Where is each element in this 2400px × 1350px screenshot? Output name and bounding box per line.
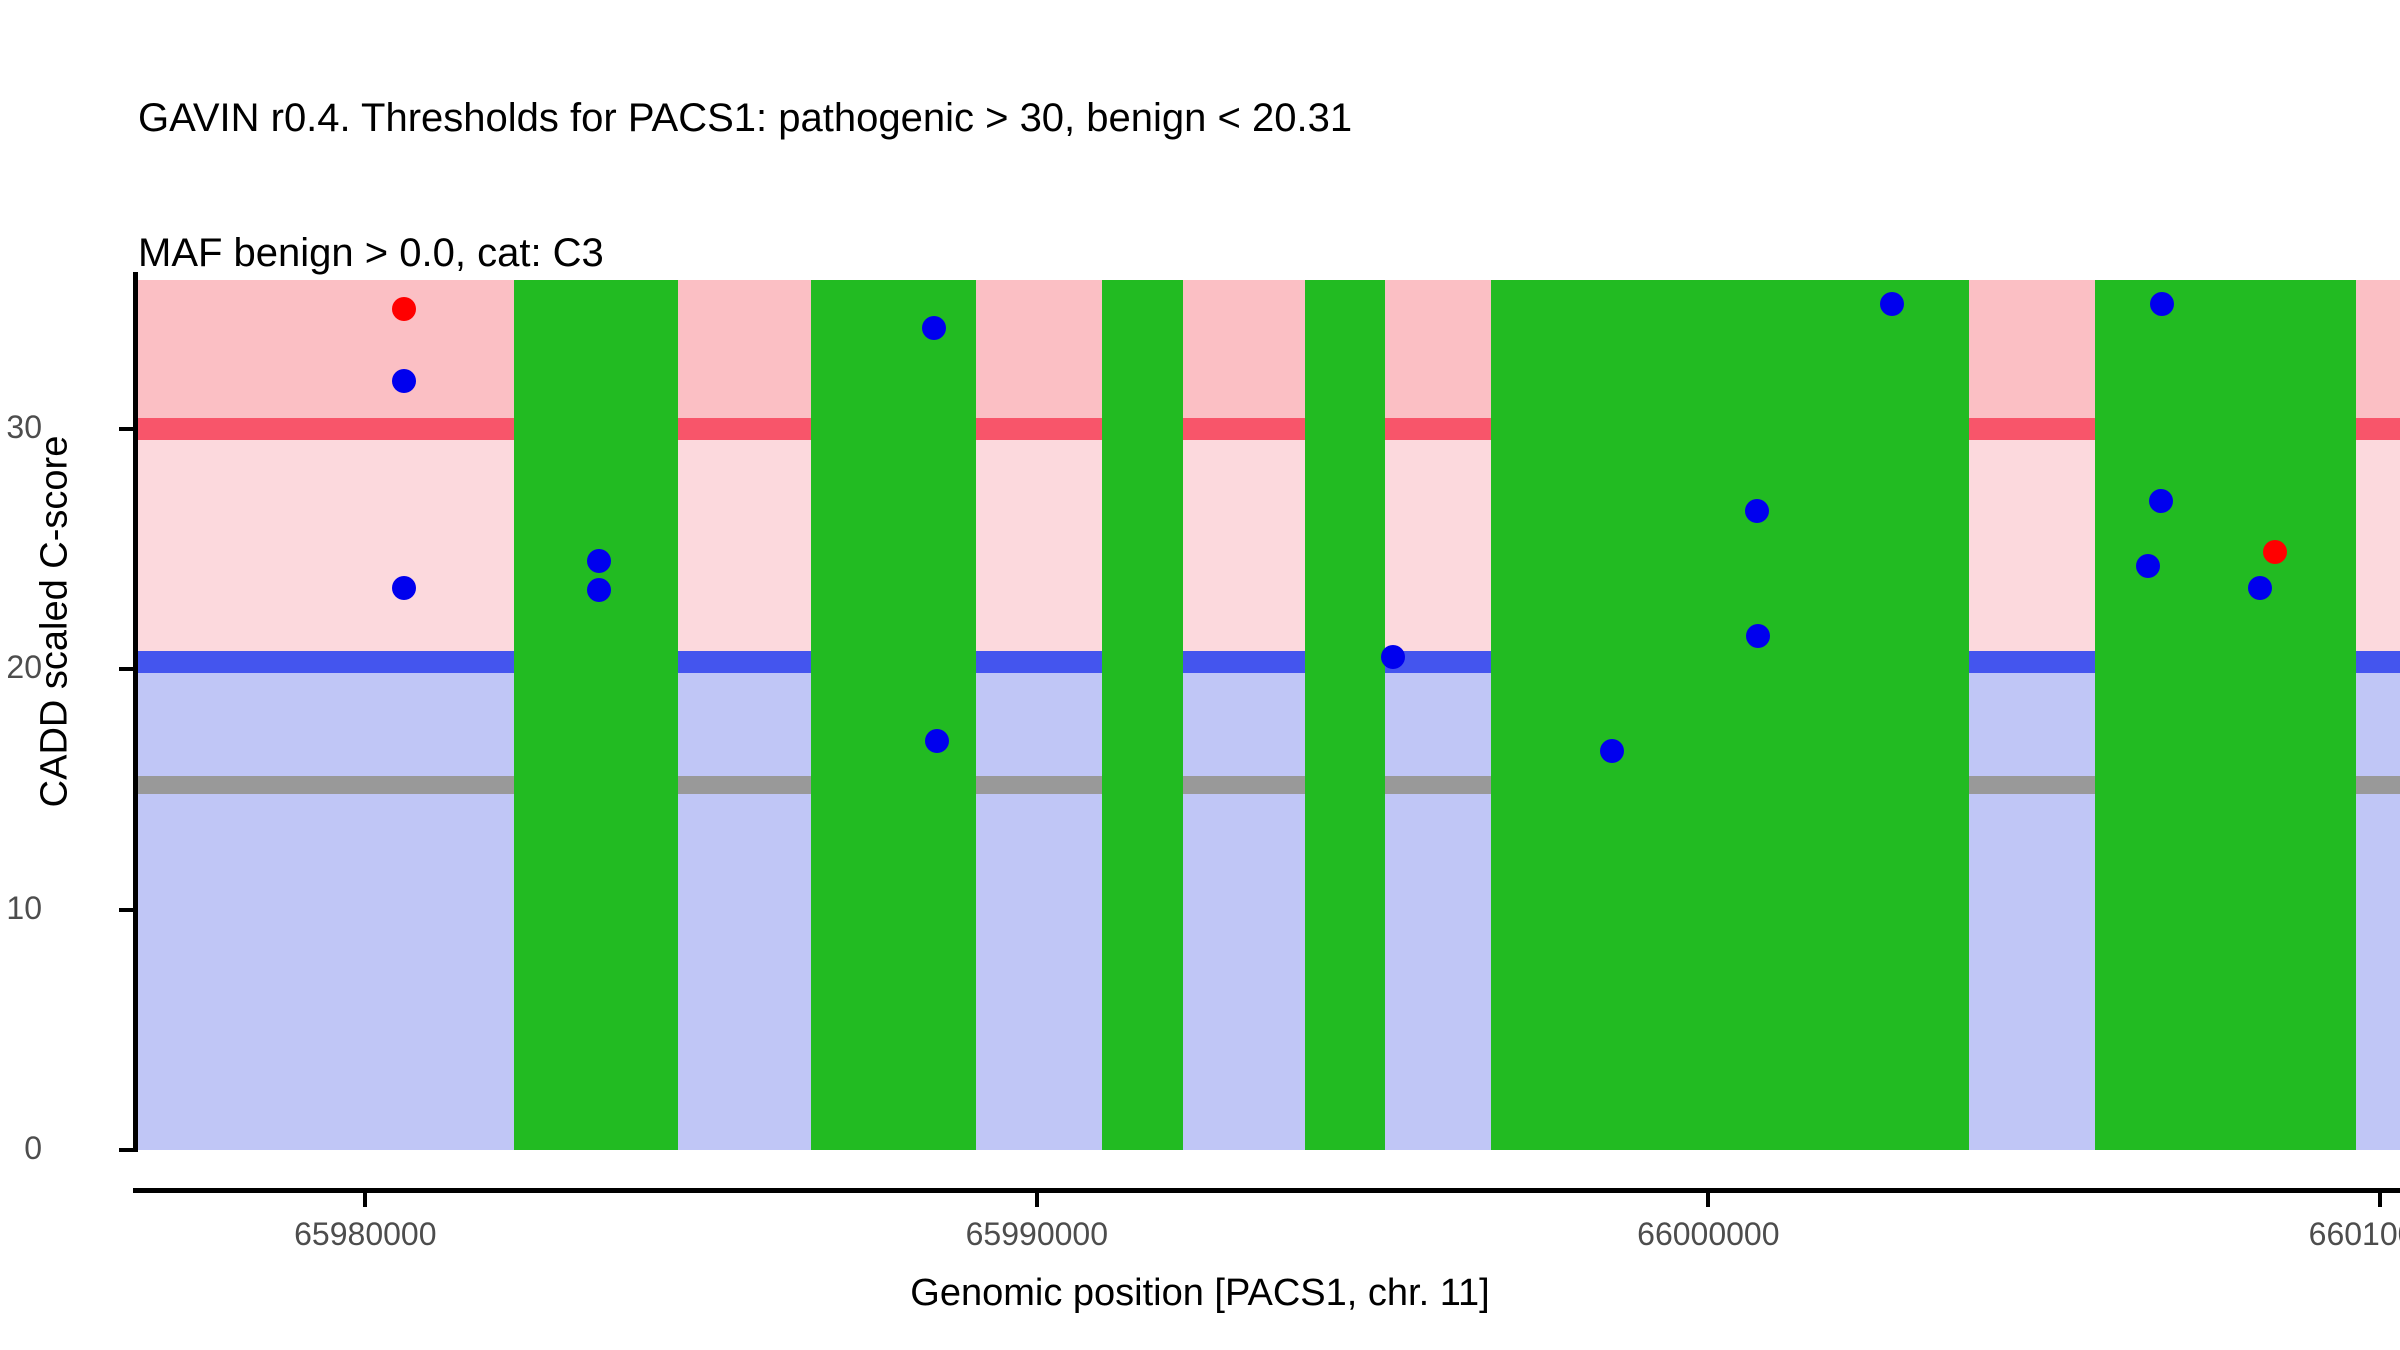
x-axis-tick-label: 66000000: [1637, 1216, 1779, 1253]
chart-root: GAVIN r0.4. Thresholds for PACS1: pathog…: [0, 0, 2400, 1350]
y-axis-line: [133, 272, 138, 1152]
title-line-2: MAF benign > 0.0, cat: C3: [138, 231, 2338, 276]
gnomad-variant-point: [1746, 624, 1770, 648]
x-axis-line: [133, 1188, 2400, 1193]
title-line-1: GAVIN r0.4. Thresholds for PACS1: pathog…: [138, 96, 2338, 141]
gnomad-variant-point: [1381, 645, 1405, 669]
x-axis-title: Genomic position [PACS1, chr. 11]: [0, 1272, 2400, 1315]
gnomad-variant-point: [392, 576, 416, 600]
refseq-exon-marker: [571, 280, 678, 1150]
band-benign-threshold: [137, 651, 2400, 673]
refseq-exon-marker: [1102, 280, 1183, 1150]
y-axis-tick: [119, 908, 133, 912]
x-axis-tick: [1035, 1193, 1039, 1207]
x-axis-tick: [363, 1193, 367, 1207]
gnomad-variant-point: [587, 578, 611, 602]
x-axis-tick-label: 65980000: [294, 1216, 436, 1253]
gnomad-variant-point: [922, 316, 946, 340]
gnomad-variant-point: [2248, 576, 2272, 600]
band-pathogenic-threshold: [137, 418, 2400, 440]
plot-panel: [137, 280, 2400, 1150]
gnomad-variant-point: [2150, 292, 2174, 316]
clinvar-variant-point: [392, 297, 416, 321]
gnomad-variant-point: [587, 549, 611, 573]
band-benign-region: [137, 673, 2400, 1150]
clinvar-variant-point: [2263, 540, 2287, 564]
x-axis-tick: [1706, 1193, 1710, 1207]
x-axis-tick-label: 66010000: [2309, 1216, 2400, 1253]
gnomad-variant-point: [1880, 292, 1904, 316]
gnomad-variant-point: [925, 729, 949, 753]
gnomad-variant-point: [1600, 739, 1624, 763]
gnomad-variant-point: [1745, 499, 1769, 523]
refseq-exon-marker: [1305, 280, 1386, 1150]
gnomad-variant-point: [2136, 554, 2160, 578]
refseq-exon-marker: [1929, 280, 1969, 1150]
y-axis-tick-label: 0: [24, 1130, 42, 1167]
x-axis-tick-label: 65990000: [966, 1216, 1108, 1253]
refseq-exon-marker: [869, 280, 976, 1150]
gnomad-variant-point: [392, 369, 416, 393]
y-axis-tick: [119, 1148, 133, 1152]
x-axis-tick: [2378, 1193, 2382, 1207]
refseq-exon-marker: [2195, 280, 2356, 1150]
y-axis-tick: [119, 667, 133, 671]
band-genome-wide-fallback: [137, 776, 2400, 794]
refseq-exon-marker: [1506, 280, 1620, 1150]
band-uncertain-region: [137, 440, 2400, 651]
band-pathogenic-region: [137, 280, 2400, 418]
gnomad-variant-point: [2149, 489, 2173, 513]
y-axis-tick: [119, 427, 133, 431]
y-axis-title: CADD scaled C-score: [34, 207, 77, 1037]
